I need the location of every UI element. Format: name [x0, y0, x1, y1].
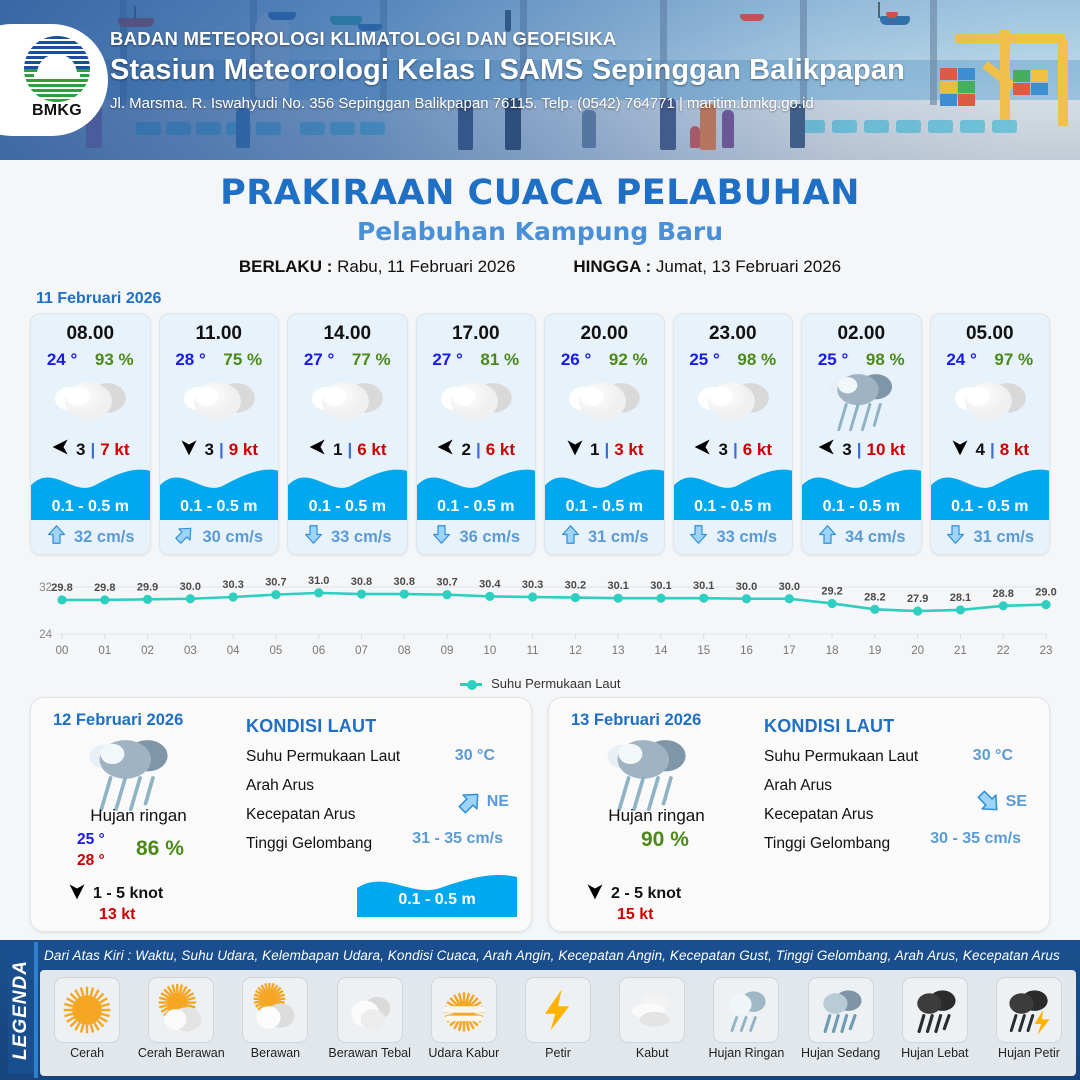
daily-forecast-panel[interactable]: 12 Februari 2026 Hujan ringan 25 ° 28 ° … — [30, 697, 532, 932]
card-wave-height: 0.1 - 0.5 m — [288, 498, 407, 516]
berawan-icon — [545, 370, 664, 432]
cerah-icon — [54, 977, 120, 1043]
day-gust: 13 kt — [99, 906, 135, 924]
card-humidity: 77 % — [352, 350, 391, 370]
card-wave-height: 0.1 - 0.5 m — [931, 498, 1050, 516]
forecast-card[interactable]: 23.00 25 ° 98 % 3 | 6 kt 0.1 - 0.5 m — [673, 313, 794, 555]
legend-item-label: Petir — [545, 1047, 571, 1061]
card-wind: 1 | 3 kt — [545, 432, 664, 463]
current-direction-arrow-icon — [817, 524, 838, 550]
card-current: 30 cm/s — [160, 520, 279, 554]
wind-direction-arrow-icon — [308, 436, 328, 463]
forecast-date-label: 11 Februari 2026 — [36, 290, 1080, 308]
card-wind-scale: 1 — [333, 440, 342, 460]
day-temp-min: 25 ° — [77, 831, 105, 849]
hingga-value: Jumat, 13 Februari 2026 — [656, 257, 841, 276]
wind-separator: | — [604, 440, 609, 460]
legend-item: Cerah — [40, 970, 134, 1076]
card-wave-height: 0.1 - 0.5 m — [417, 498, 536, 516]
card-wind-scale: 1 — [590, 440, 599, 460]
card-time: 08.00 — [31, 314, 150, 345]
card-wind: 3 | 7 kt — [31, 432, 150, 463]
svg-text:28.1: 28.1 — [950, 592, 971, 604]
kabut-icon — [619, 977, 685, 1043]
svg-text:15: 15 — [697, 645, 710, 657]
card-wind: 4 | 8 kt — [931, 432, 1050, 463]
card-gust: 10 kt — [866, 440, 905, 460]
day-humidity: 90 % — [641, 828, 689, 852]
svg-text:32: 32 — [39, 582, 52, 594]
station-address: Jl. Marsma. R. Iswahyudi No. 356 Sepingg… — [110, 95, 905, 112]
hujan-sedang-icon — [808, 977, 874, 1043]
chart-legend-marker-icon — [460, 683, 482, 686]
card-metrics: 28 ° 75 % — [160, 345, 279, 370]
cerah-berawan-icon — [148, 977, 214, 1043]
svg-text:29.0: 29.0 — [1035, 587, 1056, 599]
svg-text:21: 21 — [954, 645, 967, 657]
hujan-ringan-icon — [713, 977, 779, 1043]
card-wave-height: 0.1 - 0.5 m — [160, 498, 279, 516]
svg-text:23: 23 — [1040, 645, 1053, 657]
forecast-card[interactable]: 02.00 25 ° 98 % 3 | 10 kt 0.1 - 0.5 m — [801, 313, 922, 555]
card-humidity: 81 % — [480, 350, 519, 370]
legend-item: Kabut — [605, 970, 699, 1076]
current-direction-arrow-icon — [431, 524, 452, 550]
legend-item: Udara Kabur — [417, 970, 511, 1076]
card-temperature: 24 ° — [47, 350, 77, 370]
card-gust: 6 kt — [743, 440, 772, 460]
card-wind-scale: 3 — [842, 440, 851, 460]
page-subtitle: Pelabuhan Kampung Baru — [0, 217, 1080, 246]
card-humidity: 93 % — [95, 350, 134, 370]
sea-row-current-dir: Arah Arus SE — [764, 777, 1035, 795]
card-wind: 3 | 6 kt — [674, 432, 793, 463]
svg-text:20: 20 — [911, 645, 924, 657]
svg-text:10: 10 — [483, 645, 496, 657]
wind-direction-arrow-icon — [179, 436, 199, 463]
svg-text:29.9: 29.9 — [137, 581, 158, 593]
card-current: 31 cm/s — [545, 520, 664, 554]
day-temp-max: 28 ° — [77, 852, 105, 870]
berawan-icon — [160, 370, 279, 432]
daily-forecast-panel[interactable]: 13 Februari 2026 Hujan ringan 90 % 2 - 5… — [548, 697, 1050, 932]
legend-item-label: Udara Kabur — [428, 1047, 499, 1061]
legend-item: Petir — [511, 970, 605, 1076]
svg-text:30.4: 30.4 — [479, 578, 501, 590]
card-temperature: 28 ° — [175, 350, 205, 370]
legend-section: LEGENDA Dari Atas Kiri : Waktu, Suhu Uda… — [0, 940, 1080, 1080]
card-time: 14.00 — [288, 314, 407, 345]
svg-text:28.2: 28.2 — [864, 591, 885, 603]
wind-direction-arrow-icon — [51, 436, 71, 463]
current-direction-arrow-icon — [945, 524, 966, 550]
card-current-speed: 31 cm/s — [588, 528, 649, 547]
berawan-icon — [674, 370, 793, 432]
card-gust: 7 kt — [100, 440, 129, 460]
card-humidity: 92 % — [609, 350, 648, 370]
forecast-card[interactable]: 20.00 26 ° 92 % 1 | 3 kt 0.1 - 0.5 m — [544, 313, 665, 555]
legend-item-label: Hujan Sedang — [801, 1047, 880, 1061]
card-wave-height: 0.1 - 0.5 m — [802, 498, 921, 516]
day-condition: Hujan ringan — [31, 806, 246, 826]
card-humidity: 97 % — [994, 350, 1033, 370]
svg-text:30.3: 30.3 — [522, 579, 543, 591]
hujan-lebat-icon — [902, 977, 968, 1043]
svg-text:30.0: 30.0 — [779, 581, 800, 593]
svg-text:11: 11 — [527, 645, 539, 657]
card-metrics: 24 ° 93 % — [31, 345, 150, 370]
day-wind-speed: 2 - 5 knot — [611, 885, 681, 903]
current-direction-arrow-icon — [688, 524, 709, 550]
day-date: 13 Februari 2026 — [571, 711, 701, 730]
sea-row-wave: Tinggi Gelombang — [246, 835, 517, 853]
card-time: 23.00 — [674, 314, 793, 345]
card-temperature: 26 ° — [561, 350, 591, 370]
svg-text:14: 14 — [655, 645, 668, 657]
sea-conditions-title: KONDISI LAUT — [246, 716, 517, 737]
svg-text:30.3: 30.3 — [222, 579, 243, 591]
card-wind: 3 | 10 kt — [802, 432, 921, 463]
sea-conditions-title: KONDISI LAUT — [764, 716, 1035, 737]
forecast-card[interactable]: 11.00 28 ° 75 % 3 | 9 kt 0.1 - 0.5 m — [159, 313, 280, 555]
wind-separator: | — [219, 440, 224, 460]
berlaku-label: BERLAKU : — [239, 257, 333, 276]
validity-row: BERLAKU : Rabu, 11 Februari 2026 HINGGA … — [0, 257, 1080, 277]
berawan-icon — [31, 370, 150, 432]
hingga-group: HINGGA : Jumat, 13 Februari 2026 — [573, 257, 841, 277]
forecast-card[interactable]: 14.00 27 ° 77 % 1 | 6 kt 0.1 - 0.5 m — [287, 313, 408, 555]
svg-text:03: 03 — [184, 645, 197, 657]
day-wave-height: 0.1 - 0.5 m — [357, 891, 517, 909]
svg-text:05: 05 — [270, 645, 283, 657]
card-wind: 3 | 9 kt — [160, 432, 279, 463]
card-wave-height: 0.1 - 0.5 m — [545, 498, 664, 516]
sea-row-current-speed: Kecepatan Arus 31 - 35 cm/s — [246, 806, 517, 824]
card-humidity: 75 % — [223, 350, 262, 370]
svg-text:06: 06 — [312, 645, 325, 657]
card-wind-scale: 3 — [76, 440, 85, 460]
station-name: Stasiun Meteorologi Kelas I SAMS Sepingg… — [110, 54, 905, 87]
legend-item-label: Berawan — [251, 1047, 300, 1061]
sea-row-sst: Suhu Permukaan Laut 30 °C — [246, 748, 517, 766]
svg-text:12: 12 — [569, 645, 582, 657]
card-wind-scale: 3 — [204, 440, 213, 460]
svg-text:31.0: 31.0 — [308, 575, 329, 587]
sea-sst-value: 30 °C — [455, 747, 495, 765]
legend-item-label: Kabut — [636, 1047, 669, 1061]
legend-item-label: Cerah — [70, 1047, 104, 1061]
page-title-block: PRAKIRAAN CUACA PELABUHAN Pelabuhan Kamp… — [0, 173, 1080, 277]
svg-text:08: 08 — [398, 645, 411, 657]
daily-forecast-panels: 12 Februari 2026 Hujan ringan 25 ° 28 ° … — [0, 691, 1080, 932]
hingga-label: HINGGA : — [573, 257, 651, 276]
card-temperature: 27 ° — [304, 350, 334, 370]
card-time: 17.00 — [417, 314, 536, 345]
berawan-icon — [242, 977, 308, 1043]
card-metrics: 27 ° 77 % — [288, 345, 407, 370]
legend-item: Berawan — [228, 970, 322, 1076]
day-gust: 15 kt — [617, 906, 653, 924]
hujan-ringan-icon — [802, 370, 921, 432]
udara-kabur-icon — [431, 977, 497, 1043]
legend-item-label: Hujan Ringan — [709, 1047, 785, 1061]
card-metrics: 25 ° 98 % — [674, 345, 793, 370]
legend-item: Hujan Sedang — [794, 970, 888, 1076]
card-temperature: 25 ° — [689, 350, 719, 370]
svg-text:30.0: 30.0 — [180, 581, 201, 593]
svg-text:30.8: 30.8 — [394, 576, 415, 588]
wind-direction-arrow-icon — [950, 436, 970, 463]
agency-name: BADAN METEOROLOGI KLIMATOLOGI DAN GEOFIS… — [110, 28, 905, 50]
card-wave-height: 0.1 - 0.5 m — [674, 498, 793, 516]
forecast-card[interactable]: 05.00 24 ° 97 % 4 | 8 kt 0.1 - 0.5 m — [930, 313, 1051, 555]
svg-text:30.1: 30.1 — [693, 580, 714, 592]
card-current-speed: 32 cm/s — [74, 528, 135, 547]
berawan-icon — [931, 370, 1050, 432]
svg-text:07: 07 — [355, 645, 368, 657]
svg-text:09: 09 — [441, 645, 454, 657]
card-current: 32 cm/s — [31, 520, 150, 554]
card-wind: 1 | 6 kt — [288, 432, 407, 463]
sea-row-sst: Suhu Permukaan Laut 30 °C — [764, 748, 1035, 766]
wind-direction-arrow-icon — [436, 436, 456, 463]
card-current-speed: 31 cm/s — [973, 528, 1034, 547]
svg-text:27.9: 27.9 — [907, 593, 928, 605]
hourly-forecast-list: 08.00 24 ° 93 % 3 | 7 kt 0.1 - 0.5 m — [0, 313, 1080, 555]
berawan-tebal-icon — [337, 977, 403, 1043]
svg-text:02: 02 — [141, 645, 154, 657]
header-text-block: BADAN METEOROLOGI KLIMATOLOGI DAN GEOFIS… — [110, 28, 905, 112]
card-gust: 3 kt — [614, 440, 643, 460]
legend-item-label: Hujan Petir — [998, 1047, 1060, 1061]
svg-text:22: 22 — [997, 645, 1010, 657]
petir-icon — [525, 977, 591, 1043]
card-current-speed: 33 cm/s — [331, 528, 392, 547]
sea-sst-value: 30 °C — [973, 747, 1013, 765]
legend-item-label: Cerah Berawan — [138, 1047, 225, 1061]
card-current-speed: 36 cm/s — [459, 528, 520, 547]
page-header: BMKG BADAN METEOROLOGI KLIMATOLOGI DAN G… — [0, 0, 1080, 160]
legend-item: Berawan Tebal — [323, 970, 417, 1076]
card-current: 33 cm/s — [674, 520, 793, 554]
card-wind-scale: 3 — [718, 440, 727, 460]
wind-direction-arrow-icon — [817, 436, 837, 463]
day-condition: Hujan ringan — [549, 806, 764, 826]
day-wind-direction-arrow-icon — [67, 880, 87, 907]
card-wave-height: 0.1 - 0.5 m — [31, 498, 150, 516]
svg-text:00: 00 — [56, 645, 69, 657]
card-wind-scale: 4 — [975, 440, 984, 460]
card-humidity: 98 % — [737, 350, 776, 370]
svg-text:30.7: 30.7 — [265, 577, 286, 589]
svg-text:16: 16 — [740, 645, 753, 657]
card-gust: 6 kt — [486, 440, 515, 460]
sea-conditions: KONDISI LAUT Suhu Permukaan Laut 30 °C A… — [246, 716, 517, 853]
legend-item: Cerah Berawan — [134, 970, 228, 1076]
svg-text:29.2: 29.2 — [821, 585, 842, 597]
sea-conditions: KONDISI LAUT Suhu Permukaan Laut 30 °C A… — [764, 716, 1035, 853]
bmkg-emblem-icon — [24, 36, 90, 102]
legend-item-label: Berawan Tebal — [328, 1047, 410, 1061]
wind-separator: | — [857, 440, 862, 460]
berlaku-group: BERLAKU : Rabu, 11 Februari 2026 — [239, 257, 516, 277]
card-temperature: 27 ° — [432, 350, 462, 370]
card-current: 36 cm/s — [417, 520, 536, 554]
svg-text:19: 19 — [868, 645, 881, 657]
svg-text:30.1: 30.1 — [607, 580, 628, 592]
svg-text:30.7: 30.7 — [436, 577, 457, 589]
current-direction-arrow-icon — [174, 524, 195, 550]
svg-text:30.1: 30.1 — [650, 580, 671, 592]
legend-item: Hujan Ringan — [699, 970, 793, 1076]
current-direction-arrow-icon — [303, 524, 324, 550]
wind-separator: | — [476, 440, 481, 460]
bmkg-logo-text: BMKG — [20, 102, 94, 120]
day-wind: 2 - 5 knot — [585, 880, 681, 907]
card-metrics: 27 ° 81 % — [417, 345, 536, 370]
svg-text:29.8: 29.8 — [94, 582, 115, 594]
svg-text:30.2: 30.2 — [565, 580, 586, 592]
berawan-icon — [417, 370, 536, 432]
day-wind: 1 - 5 knot — [67, 880, 163, 907]
svg-text:29.8: 29.8 — [51, 582, 72, 594]
card-current-speed: 30 cm/s — [202, 528, 263, 547]
card-wind: 2 | 6 kt — [417, 432, 536, 463]
day-date: 12 Februari 2026 — [53, 711, 183, 730]
legend-item: Hujan Petir — [982, 970, 1076, 1076]
wind-direction-arrow-icon — [565, 436, 585, 463]
wind-separator: | — [990, 440, 995, 460]
current-direction-arrow-icon — [46, 524, 67, 550]
svg-text:13: 13 — [612, 645, 625, 657]
card-current-speed: 33 cm/s — [716, 528, 777, 547]
sst-chart: 2432000102030405060708091011121314151617… — [20, 565, 1060, 675]
svg-text:17: 17 — [783, 645, 796, 657]
card-metrics: 24 ° 97 % — [931, 345, 1050, 370]
berlaku-value: Rabu, 11 Februari 2026 — [337, 257, 515, 276]
legend-items: Cerah Cerah Berawan Berawan Berawan Teba… — [40, 970, 1076, 1076]
card-current-speed: 34 cm/s — [845, 528, 906, 547]
sea-row-current-speed: Kecepatan Arus 30 - 35 cm/s — [764, 806, 1035, 824]
card-time: 02.00 — [802, 314, 921, 345]
svg-text:01: 01 — [98, 645, 111, 657]
card-metrics: 26 ° 92 % — [545, 345, 664, 370]
svg-text:30.0: 30.0 — [736, 581, 757, 593]
berawan-icon — [288, 370, 407, 432]
wind-separator: | — [347, 440, 352, 460]
forecast-card[interactable]: 17.00 27 ° 81 % 2 | 6 kt 0.1 - 0.5 m — [416, 313, 537, 555]
svg-text:18: 18 — [826, 645, 839, 657]
card-temperature: 24 ° — [946, 350, 976, 370]
legend-item-label: Hujan Lebat — [901, 1047, 968, 1061]
hujan-petir-icon — [996, 977, 1062, 1043]
svg-text:28.8: 28.8 — [993, 588, 1014, 600]
card-current: 31 cm/s — [931, 520, 1050, 554]
wind-direction-arrow-icon — [693, 436, 713, 463]
card-gust: 6 kt — [357, 440, 386, 460]
wind-separator: | — [733, 440, 738, 460]
forecast-card[interactable]: 08.00 24 ° 93 % 3 | 7 kt 0.1 - 0.5 m — [30, 313, 151, 555]
page-title: PRAKIRAAN CUACA PELABUHAN — [0, 173, 1080, 213]
legend-item: Hujan Lebat — [888, 970, 982, 1076]
chart-legend-label: Suhu Permukaan Laut — [491, 676, 620, 691]
sea-row-current-dir: Arah Arus NE — [246, 777, 517, 795]
sea-row-wave: Tinggi Gelombang — [764, 835, 1035, 853]
bmkg-logo: BMKG — [0, 24, 108, 136]
card-time: 20.00 — [545, 314, 664, 345]
day-humidity: 86 % — [136, 837, 184, 861]
card-wind-scale: 2 — [461, 440, 470, 460]
legend-note: Dari Atas Kiri : Waktu, Suhu Udara, Kele… — [44, 948, 1060, 963]
day-wind-speed: 1 - 5 knot — [93, 885, 163, 903]
card-current: 33 cm/s — [288, 520, 407, 554]
day-wind-direction-arrow-icon — [585, 880, 605, 907]
svg-text:04: 04 — [227, 645, 240, 657]
sst-chart-svg: 2432000102030405060708091011121314151617… — [20, 565, 1060, 660]
current-direction-arrow-icon — [560, 524, 581, 550]
card-gust: 9 kt — [229, 440, 258, 460]
card-gust: 8 kt — [1000, 440, 1029, 460]
card-current: 34 cm/s — [802, 520, 921, 554]
svg-text:24: 24 — [39, 629, 52, 641]
card-time: 05.00 — [931, 314, 1050, 345]
wind-separator: | — [90, 440, 95, 460]
chart-legend: Suhu Permukaan Laut — [0, 676, 1080, 691]
svg-text:30.8: 30.8 — [351, 576, 372, 588]
card-time: 11.00 — [160, 314, 279, 345]
legend-vertical-title: LEGENDA — [8, 946, 34, 1074]
